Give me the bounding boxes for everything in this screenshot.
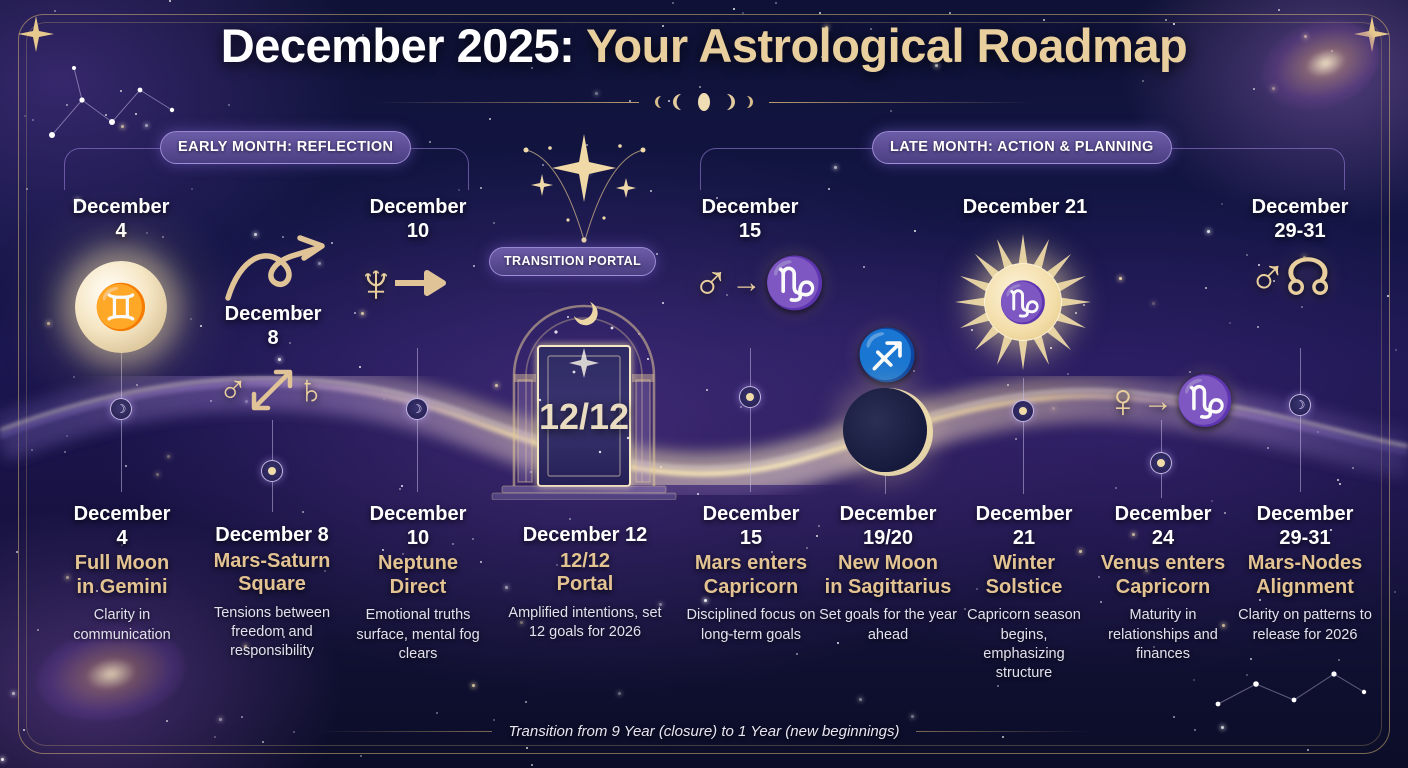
top-label-dec4: December 4 bbox=[41, 196, 201, 243]
event-card[interactable]: December 24 Venus enters Capricorn Matur… bbox=[1092, 503, 1234, 664]
event-card[interactable]: December 19/20 New Moon in Sagittarius S… bbox=[812, 503, 964, 645]
portal-archway-icon: 12/12 bbox=[478, 288, 690, 500]
infographic-canvas: December 2025: Your Astrological Roadmap… bbox=[0, 0, 1408, 768]
event-description: Maturity in relationships and finances bbox=[1092, 606, 1234, 664]
event-description: Capricorn season begins, emphasizing str… bbox=[958, 606, 1090, 683]
divider-line-left bbox=[374, 102, 639, 103]
event-date: December 10 bbox=[342, 503, 494, 550]
capricorn-glyph: ♑ bbox=[984, 263, 1062, 341]
timeline-stem bbox=[1300, 348, 1301, 396]
event-name: Mars enters Capricorn bbox=[676, 552, 826, 599]
event-description: Tensions between freedom and responsibil… bbox=[196, 604, 348, 662]
footer-line-right bbox=[916, 731, 1091, 732]
timeline-stem bbox=[750, 408, 751, 492]
neptune-glyph: ♆ bbox=[355, 255, 397, 311]
sagittarius-swoosh-icon bbox=[222, 232, 332, 302]
top-label-dec29: December 29-31 bbox=[1220, 196, 1380, 243]
top-label-dec15: December 15 bbox=[670, 196, 830, 243]
saturn-glyph: ♄ bbox=[296, 370, 326, 410]
moon-phases-icon bbox=[651, 92, 757, 112]
event-name: 12/12 Portal bbox=[502, 550, 668, 597]
footer-line-left bbox=[317, 731, 492, 732]
timeline-node-dec29[interactable]: ☽ bbox=[1289, 394, 1311, 416]
event-name: Winter Solstice bbox=[958, 552, 1090, 599]
neptune-direct-icon: ♆ bbox=[355, 255, 447, 311]
timeline-stem bbox=[750, 348, 751, 390]
event-card[interactable]: December 10 Neptune Direct Emotional tru… bbox=[342, 503, 494, 664]
timeline-stem bbox=[1161, 474, 1162, 498]
event-description: Clarity on patterns to release for 2026 bbox=[1232, 606, 1378, 645]
event-description: Disciplined focus on long-term goals bbox=[676, 606, 826, 645]
event-name: Mars-Saturn Square bbox=[196, 550, 348, 597]
sagittarius-icon: ♐ bbox=[856, 330, 918, 380]
event-name: Venus enters Capricorn bbox=[1092, 552, 1234, 599]
timeline-stem bbox=[417, 348, 418, 402]
event-card[interactable]: December 15 Mars enters Capricorn Discip… bbox=[676, 503, 826, 645]
mars-glyph: ♂ bbox=[1248, 252, 1287, 304]
capricorn-glyph: ♑ bbox=[1175, 378, 1235, 426]
mars-glyph: ♂ bbox=[692, 258, 730, 308]
section-badge-portal[interactable]: TRANSITION PORTAL bbox=[489, 247, 656, 276]
gemini-glyph: ♊ bbox=[94, 281, 149, 333]
sagittarius-glyph: ♐ bbox=[856, 330, 918, 380]
top-label-dec10: December 10 bbox=[338, 196, 498, 243]
event-date: December 15 bbox=[676, 503, 826, 550]
timeline-node-dec10[interactable]: ☽ bbox=[406, 398, 428, 420]
square-aspect-icon bbox=[242, 360, 302, 420]
new-moon-sagittarius-icon bbox=[843, 388, 927, 472]
full-moon-gemini-icon: ♊ bbox=[75, 261, 167, 353]
footer: Transition from 9 Year (closure) to 1 Ye… bbox=[0, 723, 1408, 740]
capricorn-glyph: ♑ bbox=[764, 258, 826, 308]
event-name: Full Moon in Gemini bbox=[46, 552, 198, 599]
event-card[interactable]: December 21 Winter Solstice Capricorn se… bbox=[958, 503, 1090, 684]
moon-phase-divider bbox=[0, 92, 1408, 112]
timeline-node-dec24[interactable] bbox=[1150, 452, 1172, 474]
event-name: Mars-Nodes Alignment bbox=[1232, 552, 1378, 599]
section-badge-early[interactable]: EARLY MONTH: REFLECTION bbox=[160, 131, 411, 164]
page-title: December 2025: Your Astrological Roadmap bbox=[0, 18, 1408, 73]
event-card[interactable]: December 4 Full Moon in Gemini Clarity i… bbox=[46, 503, 198, 645]
page-title-white: December 2025: bbox=[221, 19, 575, 72]
mars-enters-capricorn-icon: ♂ → ♑ bbox=[692, 258, 826, 308]
timeline-stem bbox=[1300, 416, 1301, 492]
timeline-node-dec21[interactable] bbox=[1012, 400, 1034, 422]
portal-label: 12/12 bbox=[478, 396, 690, 438]
event-name: New Moon in Sagittarius bbox=[812, 552, 964, 599]
timeline-stem bbox=[272, 482, 273, 512]
venus-glyph: ♀ bbox=[1105, 378, 1141, 426]
direct-arrow-icon bbox=[393, 268, 447, 298]
timeline-stem bbox=[121, 420, 122, 492]
event-date: December 4 bbox=[46, 503, 198, 550]
timeline-node-dec4[interactable]: ☽ bbox=[110, 398, 132, 420]
top-label-dec8: December 8 bbox=[193, 303, 353, 350]
mars-saturn-square-icon: ♂ ♄ bbox=[218, 360, 326, 420]
event-description: Emotional truths surface, mental fog cle… bbox=[342, 606, 494, 664]
portal-sparkle-icon bbox=[512, 128, 657, 253]
timeline-node-dec8[interactable] bbox=[261, 460, 283, 482]
event-card[interactable]: December 8 Mars-Saturn Square Tensions b… bbox=[196, 524, 348, 662]
top-label-dec21: December 21 bbox=[930, 196, 1120, 220]
event-date: December 29-31 bbox=[1232, 503, 1378, 550]
enters-arrow-icon: → bbox=[732, 268, 762, 298]
event-name: Neptune Direct bbox=[342, 552, 494, 599]
north-node-glyph: ☊ bbox=[1285, 252, 1331, 304]
timeline-stem bbox=[885, 472, 886, 494]
event-date: December 24 bbox=[1092, 503, 1234, 550]
section-badge-late[interactable]: LATE MONTH: ACTION & PLANNING bbox=[872, 131, 1172, 164]
event-date: December 19/20 bbox=[812, 503, 964, 550]
page-title-gold: Your Astrological Roadmap bbox=[586, 19, 1187, 72]
event-date: December 21 bbox=[958, 503, 1090, 550]
event-card[interactable]: December 29-31 Mars-Nodes Alignment Clar… bbox=[1232, 503, 1378, 645]
event-description: Amplified intentions, set 12 goals for 2… bbox=[502, 604, 668, 643]
timeline-stem bbox=[1023, 422, 1024, 494]
event-date: December 12 bbox=[502, 524, 668, 548]
event-date: December 8 bbox=[196, 524, 348, 548]
event-card[interactable]: December 12 12/12 Portal Amplified inten… bbox=[502, 524, 668, 642]
event-description: Clarity in communication bbox=[46, 606, 198, 645]
timeline-node-dec15[interactable] bbox=[739, 386, 761, 408]
footer-text: Transition from 9 Year (closure) to 1 Ye… bbox=[508, 723, 899, 740]
sun-capricorn-solstice-icon: ♑ bbox=[953, 232, 1093, 372]
venus-enters-capricorn-icon: ♀ → ♑ bbox=[1105, 378, 1235, 426]
mars-nodes-icon: ♂ ☊ bbox=[1248, 252, 1331, 304]
event-description: Set goals for the year ahead bbox=[812, 606, 964, 645]
timeline-stem bbox=[417, 420, 418, 492]
divider-line-right bbox=[769, 102, 1034, 103]
enters-arrow-icon: → bbox=[1143, 387, 1173, 417]
